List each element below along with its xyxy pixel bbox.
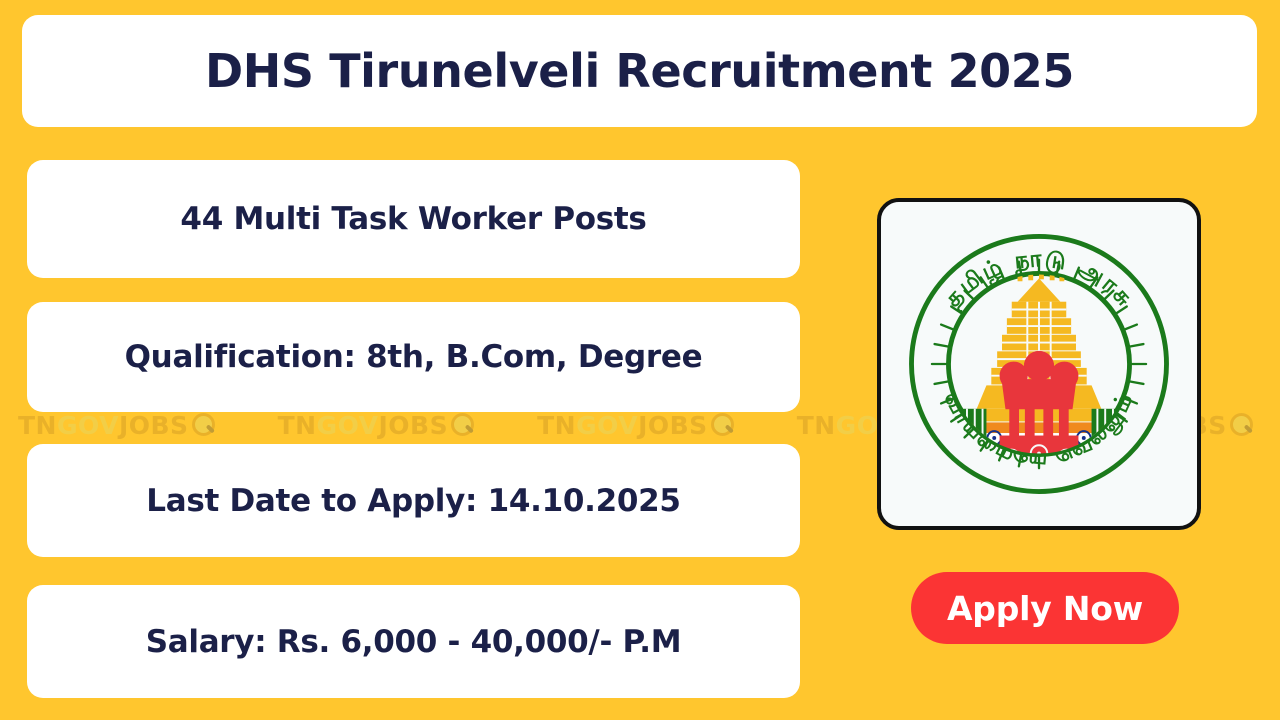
tamil-nadu-government-emblem-icon: தமிழ் நாடு அரசு வாய்மையே வெல்லும்: [893, 214, 1185, 514]
tamil-nadu-emblem-box: தமிழ் நாடு அரசு வாய்மையே வெல்லும்: [877, 198, 1201, 530]
detail-card-salary: Salary: Rs. 6,000 - 40,000/- P.M: [27, 585, 800, 698]
detail-label: 44 Multi Task Worker Posts: [180, 201, 646, 237]
watermark-jobs: JOBS: [119, 411, 189, 440]
detail-card-qualification: Qualification: 8th, B.Com, Degree: [27, 302, 800, 412]
watermark-tn: TN: [797, 411, 836, 440]
magnifier-icon: [451, 413, 475, 437]
watermark-tn: TN: [537, 411, 576, 440]
apply-now-label: Apply Now: [947, 589, 1143, 628]
watermark: TNGOVJOBS: [278, 411, 476, 440]
watermark-tn: TN: [18, 411, 57, 440]
detail-label: Qualification: 8th, B.Com, Degree: [125, 339, 703, 375]
watermark: TNGOVJOBS: [537, 411, 735, 440]
watermark-gov: GOV: [576, 411, 638, 440]
magnifier-icon: [711, 413, 735, 437]
watermark-tn: TN: [278, 411, 317, 440]
magnifier-icon: [192, 413, 216, 437]
page-title: DHS Tirunelveli Recruitment 2025: [205, 44, 1074, 98]
detail-card-last-date: Last Date to Apply: 14.10.2025: [27, 444, 800, 557]
magnifier-icon: [1230, 413, 1254, 437]
watermark-jobs: JOBS: [379, 411, 449, 440]
detail-card-posts: 44 Multi Task Worker Posts: [27, 160, 800, 278]
detail-label: Last Date to Apply: 14.10.2025: [146, 483, 680, 519]
watermark-gov: GOV: [57, 411, 119, 440]
watermark-jobs: JOBS: [638, 411, 708, 440]
apply-now-button[interactable]: Apply Now: [911, 572, 1179, 644]
watermark-gov: GOV: [317, 411, 379, 440]
title-card: DHS Tirunelveli Recruitment 2025: [22, 15, 1257, 127]
watermark: TNGOVJOBS: [18, 411, 216, 440]
detail-label: Salary: Rs. 6,000 - 40,000/- P.M: [146, 624, 682, 660]
recruitment-poster: TNGOVJOBS TNGOVJOBS TNGOVJOBS TNGOVJOBS …: [0, 0, 1280, 720]
